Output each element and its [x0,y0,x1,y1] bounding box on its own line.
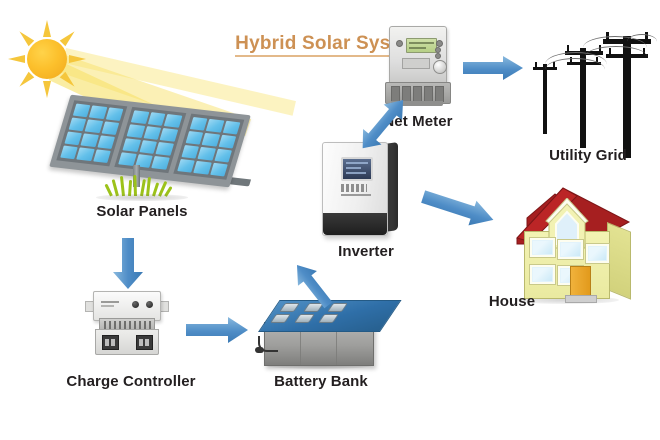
net-meter-label-strip [402,58,430,69]
house-window [530,238,555,257]
power-line [627,34,657,49]
sun-ray [60,29,78,47]
sun-ray [43,20,51,37]
utility-pole-small [543,64,547,134]
sun-ray [8,55,25,63]
sun-ray [60,72,78,90]
sun-ray [43,81,51,98]
house-icon [497,176,637,302]
grass-icon [108,174,170,196]
charge-controller-icon [85,291,175,363]
inverter-display [341,157,373,181]
house-window [530,265,555,284]
status-led [132,301,139,308]
solar-subpanel [173,114,244,180]
solar-panel-shadow [96,194,188,201]
utility-pole-icon [527,22,655,157]
battery-lug [255,347,264,353]
net-meter-display [406,38,437,53]
power-line [585,46,647,67]
arrow-panels-to-controller [112,238,146,290]
inverter-vent [341,184,367,192]
inverter-icon [322,142,408,242]
house-label: House [452,293,572,310]
inverter-base [323,213,387,235]
sun-icon [4,16,90,102]
sun-ray [17,29,35,47]
arrow-inverter-to-house [419,184,500,234]
solar-panels-label: Solar Panels [0,203,284,220]
net-meter-body [389,26,447,86]
net-meter-dial [433,60,447,74]
utility-grid-label: Utility Grid [524,147,652,164]
hybrid-solar-system-diagram: Hybrid Solar System [0,0,660,440]
inverter-brand-strip [341,194,371,196]
inverter-body [322,142,388,236]
inverter-label: Inverter [303,243,429,260]
arrow-meter-to-grid [463,55,525,81]
charge-controller-label: Charge Controller [46,373,216,390]
status-led [146,301,153,308]
battery-bank-label: Battery Bank [248,373,394,390]
charge-controller-terminals [95,329,159,355]
arrow-controller-to-battery [186,316,250,344]
house-window [586,244,609,263]
sun-disc [27,39,67,79]
house-window [558,240,583,259]
charge-controller-body [93,291,161,321]
sun-ray [17,72,35,90]
sun-ray [69,55,86,63]
house-side-wall [607,222,631,300]
